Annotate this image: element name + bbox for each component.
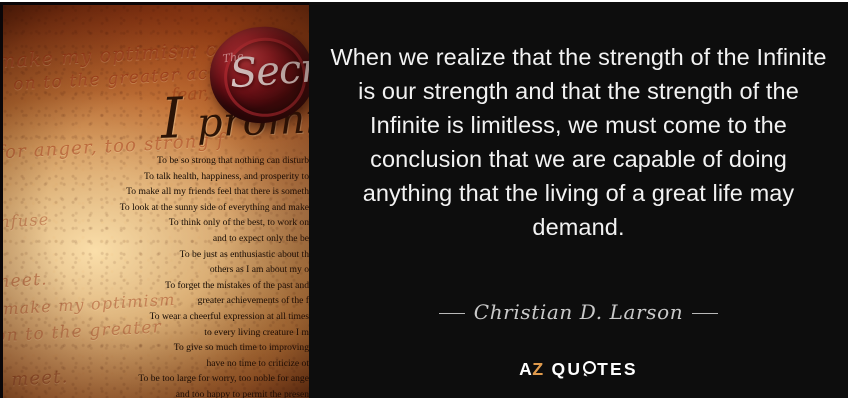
creed-line: To give so much time to improving — [3, 340, 309, 356]
creed-line: and too happy to permit the presen — [3, 387, 309, 400]
creed-line: To look at the sunny side of everything … — [3, 200, 309, 216]
parchment-background: make my optimism come t on to the greate… — [3, 5, 309, 400]
creed-line: to every living creature I m — [3, 325, 309, 341]
dash-left-icon — [439, 313, 465, 314]
logo-word-qu: QU — [552, 359, 583, 379]
creed-line: have no time to criticize ot — [3, 356, 309, 372]
creed-line: To make all my friends feel that there i… — [3, 184, 309, 200]
logo-letter-a: A — [519, 359, 532, 379]
author-name: Christian D. Larson — [474, 300, 683, 324]
logo-word-tes: TES — [597, 359, 638, 379]
seal-secret-label: Secret — [228, 42, 309, 97]
creed-line: To think only of the best, to work on — [3, 215, 309, 231]
creed-line: To be so strong that nothing can disturb — [3, 153, 309, 169]
speech-bubble-icon — [583, 361, 596, 374]
quote-content-panel: When we realize that the strength of the… — [309, 2, 848, 398]
azquotes-logo[interactable]: AZQUTES — [309, 357, 848, 381]
creed-line: greater achievements of the f — [3, 293, 309, 309]
creed-line: and to expect only the be — [3, 231, 309, 247]
creed-line: To wear a cheerful expression at all tim… — [3, 309, 309, 325]
headline-capital: I — [160, 86, 185, 152]
logo-letter-z: Z — [532, 359, 543, 379]
creed-line: others as I am about my o — [3, 262, 309, 278]
quote-author: Christian D. Larson — [309, 300, 848, 324]
dash-right-icon — [692, 313, 718, 314]
quote-image-panel[interactable]: make my optimism come t on to the greate… — [0, 2, 309, 400]
creed-line: To be just as enthusiastic about th — [3, 247, 309, 263]
creed-line: To forget the mistakes of the past and — [3, 278, 309, 294]
creed-line: To talk health, happiness, and prosperit… — [3, 169, 309, 185]
creed-text-block: To be so strong that nothing can disturb… — [3, 153, 309, 400]
creed-line: To be too large for worry, too noble for… — [3, 371, 309, 387]
quote-card: make my optimism come t on to the greate… — [0, 0, 850, 400]
quote-text: When we realize that the strength of the… — [323, 40, 834, 244]
